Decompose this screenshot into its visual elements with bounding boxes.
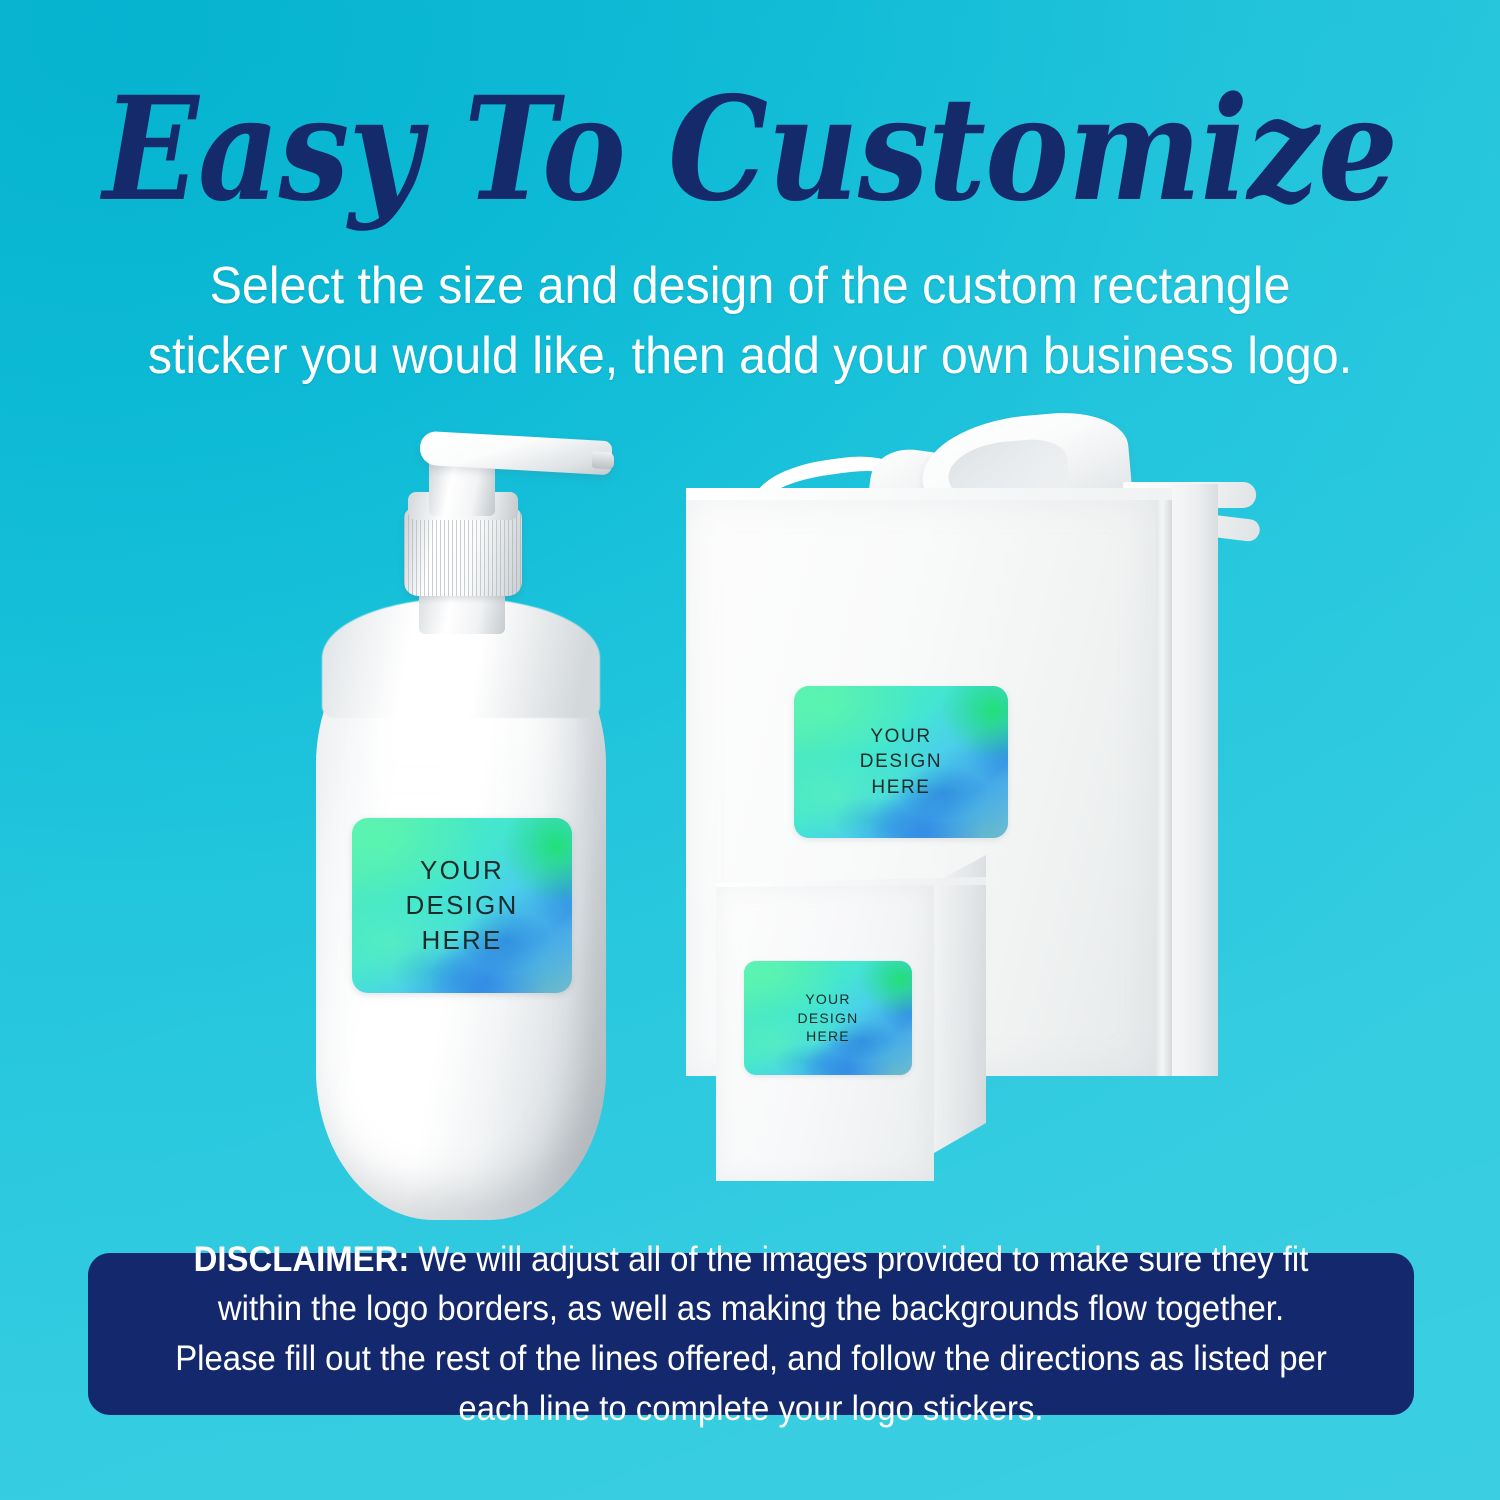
sticker-line-3: HERE <box>806 1027 850 1046</box>
disclaimer-label: DISCLAIMER: <box>194 1240 410 1279</box>
gift-box-sticker-label: YOUR DESIGN HERE <box>794 686 1008 838</box>
watercolor-sticker-art: YOUR DESIGN HERE <box>744 961 912 1075</box>
sticker-line-3: HERE <box>871 775 930 800</box>
page-headline: Easy To Customize <box>90 78 1410 221</box>
disclaimer-text: DISCLAIMER: We will adjust all of the im… <box>165 1235 1336 1434</box>
gift-box-lid-edge <box>1156 488 1172 1076</box>
small-box-mockup: YOUR DESIGN HERE <box>706 855 996 1185</box>
pump-bottle-mockup: YOUR DESIGN HERE <box>316 430 606 1220</box>
sticker-line-1: YOUR <box>420 853 504 888</box>
small-box-side-panel <box>934 855 986 1153</box>
watercolor-sticker-art: YOUR DESIGN HERE <box>794 686 1008 838</box>
sticker-line-1: YOUR <box>805 990 850 1009</box>
small-box-sticker-label: YOUR DESIGN HERE <box>744 961 912 1075</box>
watercolor-sticker-art: YOUR DESIGN HERE <box>352 818 572 993</box>
sticker-line-1: YOUR <box>870 724 931 749</box>
sticker-line-3: HERE <box>421 923 502 958</box>
sticker-placeholder-text: YOUR DESIGN HERE <box>352 818 572 993</box>
bottle-pump-collar <box>404 508 522 596</box>
sticker-placeholder-text: YOUR DESIGN HERE <box>794 686 1008 838</box>
gift-box-side-panel <box>1172 484 1218 1076</box>
gift-box-top-edge <box>686 488 1172 500</box>
disclaimer-banner: DISCLAIMER: We will adjust all of the im… <box>88 1253 1414 1415</box>
sticker-placeholder-text: YOUR DESIGN HERE <box>744 961 912 1075</box>
bottle-sticker-label: YOUR DESIGN HERE <box>352 818 572 993</box>
product-mockup-scene: YOUR DESIGN HERE YOUR DESIGN <box>0 400 1500 1240</box>
sticker-line-2: DESIGN <box>798 1009 859 1028</box>
page-subtitle: Select the size and design of the custom… <box>138 252 1362 391</box>
sticker-line-2: DESIGN <box>406 888 519 923</box>
sticker-line-2: DESIGN <box>860 749 942 774</box>
